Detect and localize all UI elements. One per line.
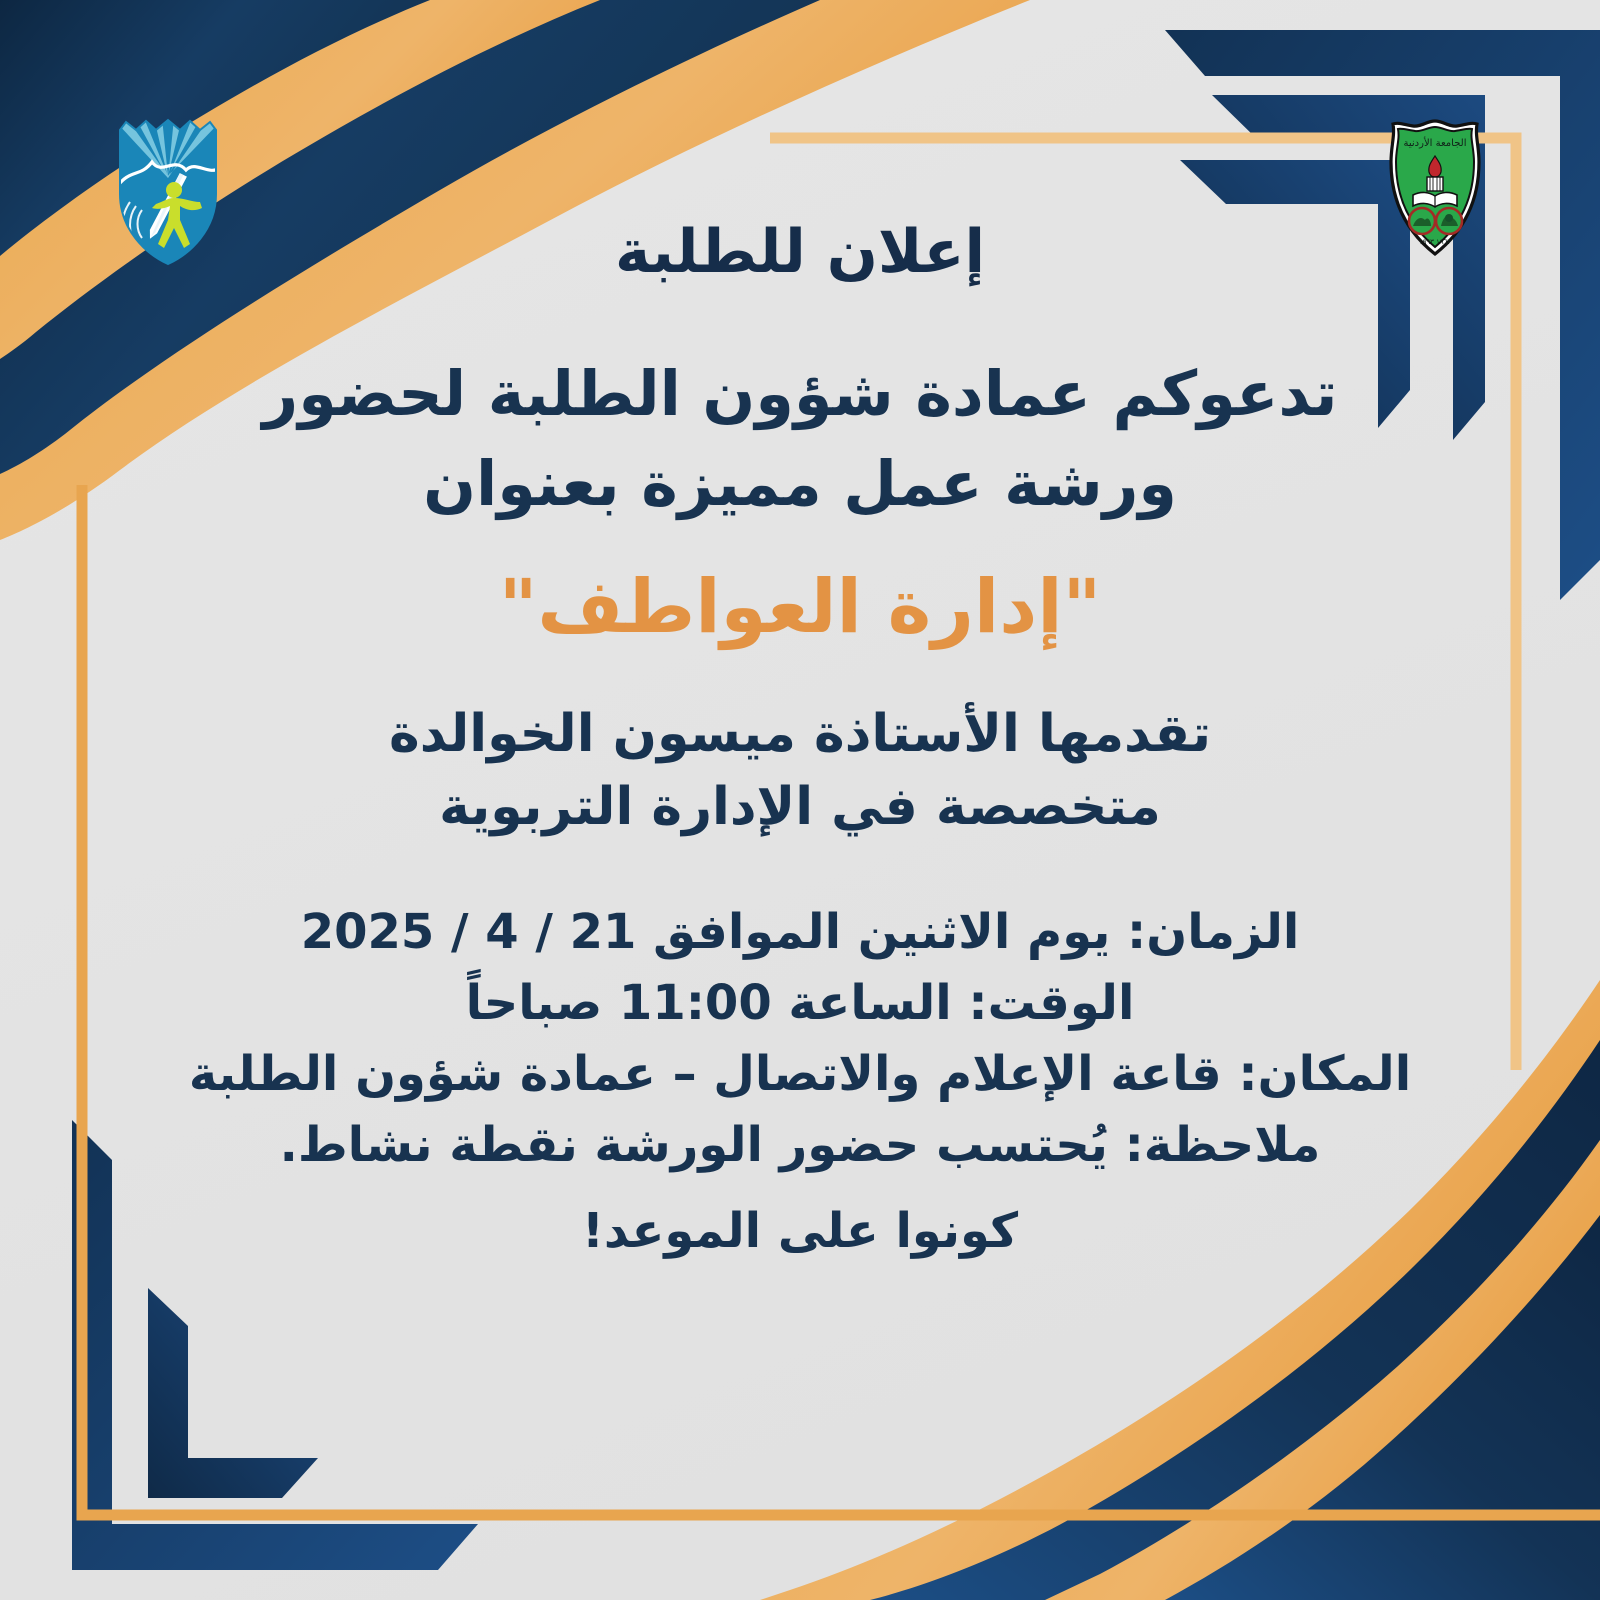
announcement-poster: الجامعة الأردنية ١٩٦٢ ١٩٦٣ إعلان للطلبة … — [0, 0, 1600, 1600]
detail-note: ملاحظة: يُحتسب حضور الورشة نقطة نشاط. — [189, 1110, 1411, 1181]
invitation-line-2: ورشة عمل مميزة بعنوان — [263, 439, 1338, 529]
presenter-name-line: تقدمها الأستاذة ميسون الخوالدة — [389, 698, 1211, 772]
detail-date: الزمان: يوم الاثنين الموافق 21 / 4 / 202… — [189, 897, 1411, 968]
invitation-text: تدعوكم عمادة شؤون الطلبة لحضور ورشة عمل … — [263, 349, 1338, 529]
presenter-info: تقدمها الأستاذة ميسون الخوالدة متخصصة في… — [389, 698, 1211, 846]
closing-call: كونوا على الموعد! — [582, 1203, 1018, 1259]
detail-time: الوقت: الساعة 11:00 صباحاً — [189, 968, 1411, 1039]
crest-year: ١٩٦٢ ١٩٦٣ — [1419, 238, 1452, 246]
presenter-specialty-line: متخصصة في الإدارة التربوية — [389, 771, 1211, 845]
detail-venue: المكان: قاعة الإعلام والاتصال – عمادة شؤ… — [189, 1039, 1411, 1110]
page-title: إعلان للطلبة — [615, 218, 985, 287]
student-affairs-shield-logo — [112, 118, 224, 268]
workshop-title: "إدارة العواطف" — [499, 563, 1101, 652]
event-details: الزمان: يوم الاثنين الموافق 21 / 4 / 202… — [189, 897, 1411, 1181]
crest-caption: الجامعة الأردنية — [1404, 136, 1467, 149]
invitation-line-1: تدعوكم عمادة شؤون الطلبة لحضور — [263, 349, 1338, 439]
university-of-jordan-crest: الجامعة الأردنية ١٩٦٢ ١٩٦٣ — [1383, 118, 1488, 258]
